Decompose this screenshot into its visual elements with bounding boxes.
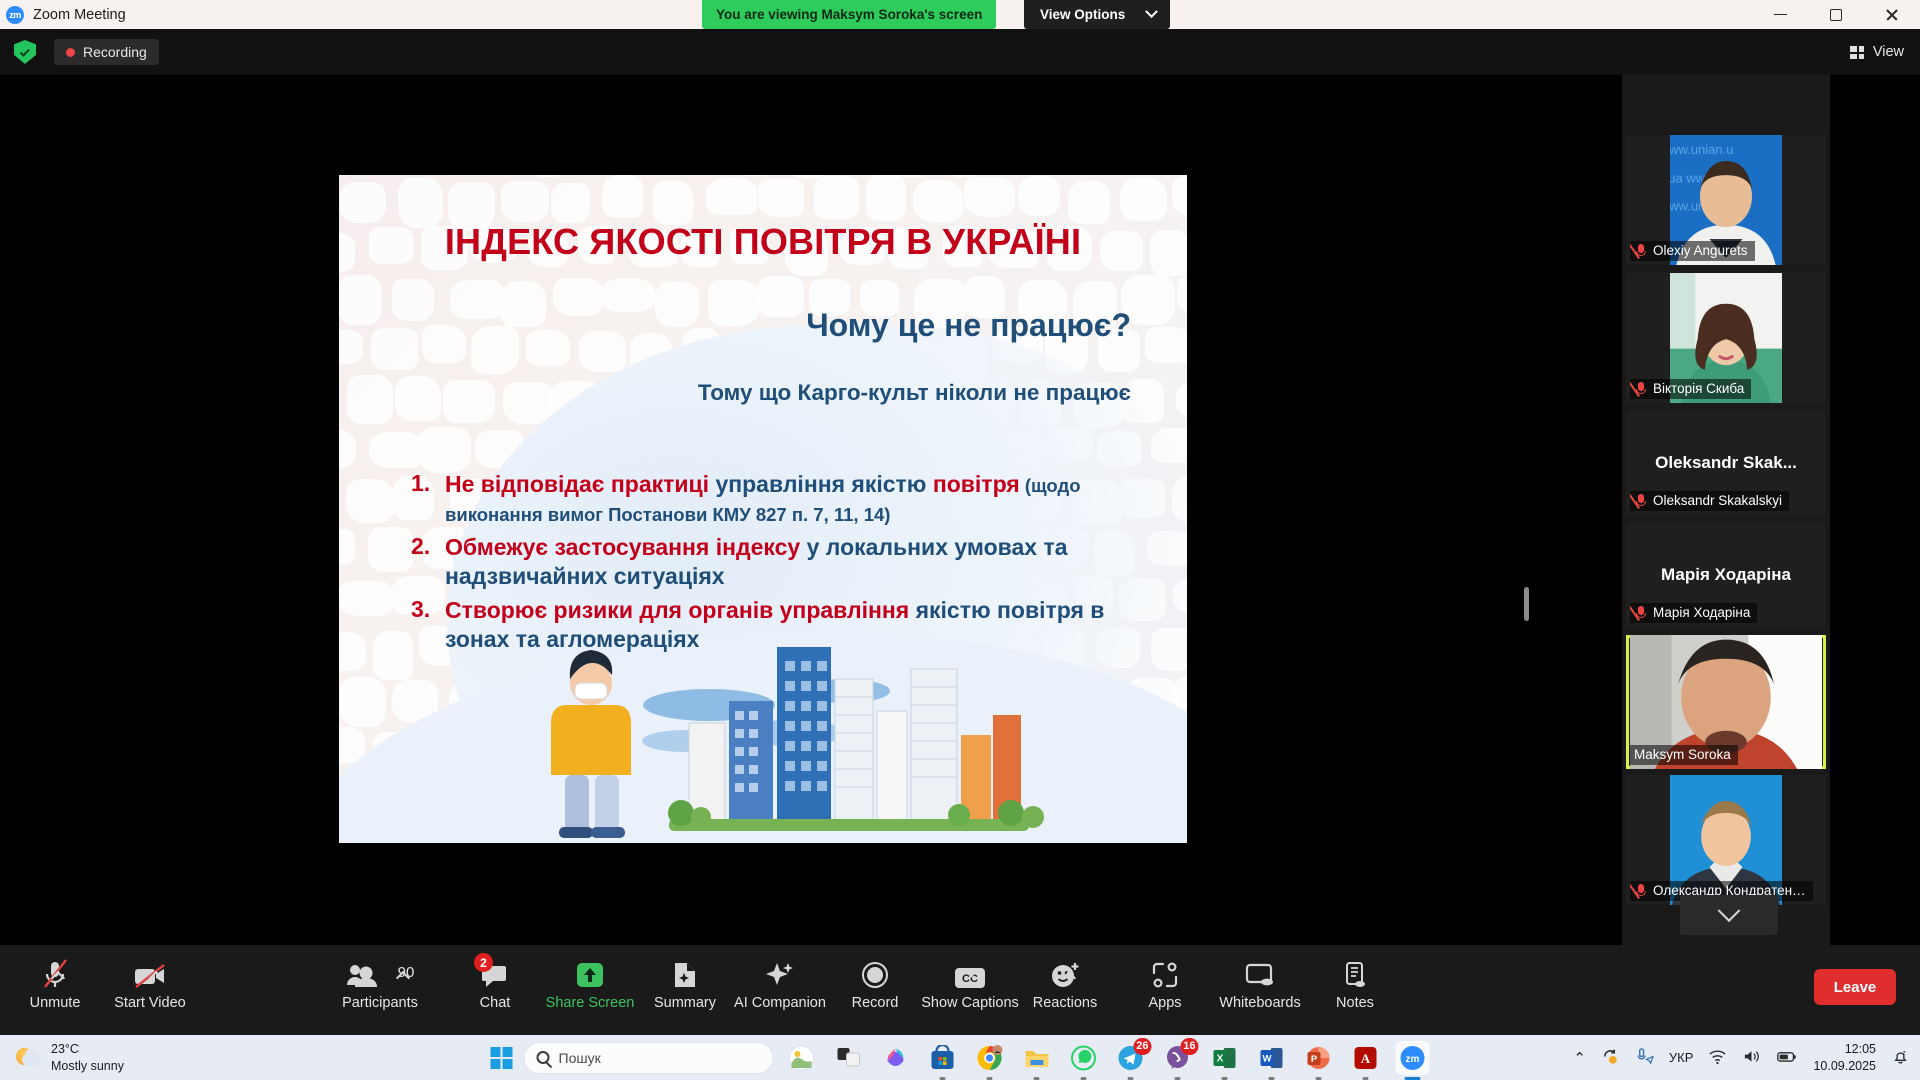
participant-name-label: Maksym Soroka [1630, 745, 1738, 765]
control-label: Reactions [1033, 995, 1097, 1011]
maximize-button[interactable] [1808, 0, 1864, 29]
taskbar-running-indicator [1128, 1077, 1134, 1080]
control-label: Whiteboards [1219, 995, 1300, 1011]
control-label: Chat [480, 995, 511, 1011]
weather-widget[interactable]: 23°C Mostly sunny [16, 1041, 124, 1075]
control-notes[interactable]: Notes [1300, 955, 1410, 1011]
taskbar-running-indicator [987, 1077, 993, 1080]
taskbar-running-indicator [1175, 1077, 1181, 1080]
encryption-shield-icon[interactable] [14, 40, 36, 64]
clock-date: 10.09.2025 [1813, 1058, 1876, 1075]
control-label: AI Companion [734, 995, 826, 1011]
volume-icon[interactable] [1742, 1047, 1761, 1069]
taskbar-running-indicator [1405, 1077, 1421, 1080]
record-dot-icon [66, 48, 75, 57]
notes-icon [1342, 955, 1368, 989]
presentation-slide: ІНДЕКС ЯКОСТІ ПОВІТРЯ В УКРАЇНІ Чому це … [339, 175, 1187, 843]
zoom-control-bar: Leave UnmuteStart Video90Participants2Ch… [0, 945, 1920, 1035]
participant-tile[interactable]: Вікторія Скиба [1626, 273, 1826, 403]
tray-expand-chevron-icon[interactable]: ⌃ [1573, 1049, 1586, 1067]
taskbar-telegram-button[interactable]: 26 [1114, 1041, 1148, 1075]
control-participants[interactable]: 90Participants [325, 955, 435, 1011]
language-indicator[interactable]: УКР [1669, 1050, 1694, 1065]
view-options-button[interactable]: View Options [1024, 0, 1170, 29]
participant-name-text: Olexiy Angurets [1653, 243, 1748, 258]
taskbar-powerpoint-button[interactable]: P [1302, 1041, 1336, 1075]
control-label: Start Video [114, 995, 185, 1011]
participant-tile[interactable]: www.unian.u n.ua www www.unian.u Olexiy … [1626, 135, 1826, 265]
onedrive-sync-icon[interactable] [1601, 1047, 1620, 1069]
control-label: Unmute [30, 995, 81, 1011]
recording-indicator[interactable]: Recording [54, 39, 159, 65]
slide-bullet-text: Не відповідає практиці управління якістю… [445, 470, 1149, 529]
svg-text:W: W [1263, 1053, 1272, 1064]
mic-muted-icon [1634, 243, 1648, 258]
taskbar-badge: 16 [1180, 1038, 1198, 1055]
slide-title: ІНДЕКС ЯКОСТІ ПОВІТРЯ В УКРАЇНІ [339, 221, 1187, 263]
control-label: Notes [1336, 995, 1374, 1011]
control-chat[interactable]: 2Chat [440, 955, 550, 1011]
grid-view-icon [1850, 46, 1865, 59]
participant-tile[interactable]: Марія ХодарінаМарія Ходаріна [1626, 523, 1826, 627]
zoom-meeting-window: zm Zoom Meeting You are viewing Maksym S… [0, 0, 1920, 1080]
taskbar-viber-button[interactable]: 16 [1161, 1041, 1195, 1075]
taskbar-task-view-button[interactable] [832, 1041, 866, 1075]
svg-text:z: z [1902, 1049, 1905, 1056]
chevron-down-icon [1718, 899, 1741, 922]
summary-icon [672, 955, 698, 989]
control-show-captions[interactable]: CCShow Captions [915, 955, 1025, 1011]
leave-button[interactable]: Leave [1814, 969, 1896, 1005]
slide-subtitle: Чому це не працює? [806, 307, 1131, 344]
taskbar-chrome-button[interactable] [973, 1041, 1007, 1075]
screen-share-banner: You are viewing Maksym Soroka's screen [702, 0, 996, 29]
control-label: Share Screen [546, 995, 635, 1011]
whiteboard-icon [1245, 955, 1275, 989]
share-screen-icon [575, 955, 605, 989]
taskbar-word-button[interactable]: W [1255, 1041, 1289, 1075]
slide-text-red: Не відповідає практиці [445, 471, 709, 497]
participant-name-text: Maksym Soroka [1634, 747, 1731, 762]
city-illustration-svg [339, 583, 1187, 843]
mic-muted-icon [1634, 493, 1648, 508]
share-panel-drag-handle[interactable] [1524, 587, 1529, 621]
taskbar-zoom-button[interactable]: zm [1396, 1041, 1430, 1075]
zoom-logo-icon: zm [6, 6, 24, 24]
control-label: Record [852, 995, 899, 1011]
minimize-icon [1774, 14, 1787, 16]
wifi-icon[interactable] [1708, 1047, 1727, 1069]
weather-temperature: 23°C [51, 1041, 124, 1058]
taskbar-running-indicator [1222, 1077, 1228, 1080]
chat-icon: 2 [481, 955, 509, 989]
taskbar-app-list: 2616XWPAzm [785, 1041, 1430, 1075]
control-share-screen[interactable]: Share Screen [535, 955, 645, 1011]
meeting-top-strip: Recording View [0, 29, 1920, 75]
taskbar-search-box[interactable]: Пошук [524, 1042, 774, 1074]
weather-description: Mostly sunny [51, 1058, 124, 1075]
control-ai-companion[interactable]: AI Companion [725, 955, 835, 1011]
slide-text-red-2: повітря [933, 471, 1020, 497]
participant-name-text: Oleksandr Skakalskyi [1653, 493, 1782, 508]
svg-text:P: P [1311, 1054, 1318, 1065]
search-icon [537, 1051, 550, 1064]
taskbar-clock[interactable]: 12:05 10.09.2025 [1813, 1041, 1876, 1075]
participant-tile[interactable]: Maksym Soroka [1626, 635, 1826, 769]
taskbar-excel-button[interactable]: X [1208, 1041, 1242, 1075]
slide-bullet-item: 1.Не відповідає практиці управління якіс… [389, 470, 1149, 529]
control-apps[interactable]: Apps [1110, 955, 1220, 1011]
view-layout-button[interactable]: View [1850, 44, 1904, 60]
participant-name-label: Марія Ходаріна [1630, 603, 1757, 623]
recording-label: Recording [83, 44, 147, 60]
clock-time: 12:05 [1813, 1041, 1876, 1058]
participant-name-text: Марія Ходаріна [1653, 605, 1750, 620]
microphone-tray-icon[interactable] [1635, 1047, 1654, 1069]
search-placeholder: Пошук [559, 1050, 601, 1066]
sparkle-icon [765, 955, 795, 989]
mic-off-icon [41, 955, 69, 989]
view-label: View [1873, 44, 1904, 60]
participant-name-label: Oleksandr Skakalskyi [1630, 491, 1789, 511]
slide-text-blue: управління якістю [709, 471, 926, 497]
close-button[interactable] [1864, 0, 1920, 29]
participant-name-label: Вікторія Скиба [1630, 379, 1751, 399]
weather-sun-cloud-icon [16, 1046, 42, 1070]
control-start-video[interactable]: Start Video [95, 955, 205, 1011]
taskbar-explorer-button[interactable] [1020, 1041, 1054, 1075]
unread-badge: 2 [474, 953, 493, 972]
shared-content-frame: ІНДЕКС ЯКОСТІ ПОВІТРЯ В УКРАЇНІ Чому це … [339, 99, 1187, 948]
filmstrip-scroll-down-button[interactable] [1680, 895, 1778, 935]
window-title: Zoom Meeting [33, 7, 126, 23]
participant-tile[interactable]: Олександр Кондратен… [1626, 775, 1826, 905]
svg-text:X: X [1217, 1053, 1224, 1064]
taskbar-widgets-button[interactable] [785, 1041, 819, 1075]
control-reactions[interactable]: Reactions [1010, 955, 1120, 1011]
control-unmute[interactable]: Unmute [0, 955, 110, 1011]
cc-icon: CC [954, 955, 986, 989]
svg-text:www.unian.u: www.unian.u [1670, 142, 1733, 157]
apps-icon [1151, 955, 1179, 989]
slide-lead-text: Тому що Карго-культ ніколи не працює [698, 380, 1131, 406]
control-label: Show Captions [921, 995, 1019, 1011]
minimize-button[interactable] [1752, 0, 1808, 29]
control-label: Summary [654, 995, 716, 1011]
control-whiteboards[interactable]: Whiteboards [1205, 955, 1315, 1011]
video-off-icon [133, 955, 167, 989]
taskbar-whatsapp-button[interactable] [1067, 1041, 1101, 1075]
svg-text:A: A [1361, 1051, 1371, 1066]
chevron-down-icon [1145, 5, 1158, 18]
control-record[interactable]: Record [820, 955, 930, 1011]
start-button[interactable] [491, 1047, 513, 1069]
participants-filmstrip[interactable]: www.unian.u n.ua www www.unian.u Olexiy … [1622, 75, 1830, 945]
system-tray: ⌃ УКР 12:05 10.09.2025 z [1573, 1041, 1910, 1075]
svg-text:zm: zm [1406, 1054, 1420, 1065]
control-label: Participants [342, 995, 418, 1011]
taskbar-running-indicator [1316, 1077, 1322, 1080]
record-icon [861, 955, 889, 989]
participant-name-label: Olexiy Angurets [1630, 241, 1755, 261]
window-controls [1752, 0, 1920, 29]
control-label: Apps [1148, 995, 1181, 1011]
slide-illustration [339, 583, 1187, 843]
participant-name-text: Вікторія Скиба [1653, 381, 1744, 396]
taskbar-copilot-button[interactable] [879, 1041, 913, 1075]
taskbar-badge: 26 [1133, 1038, 1151, 1055]
taskbar-center-group: Пошук 2616XWPAzm [491, 1041, 1430, 1075]
slide-bullet-number: 1. [389, 470, 445, 529]
mic-muted-icon [1634, 605, 1648, 620]
taskbar-running-indicator [940, 1077, 946, 1080]
window-titlebar: zm Zoom Meeting You are viewing Maksym S… [0, 0, 1920, 29]
reactions-icon [1050, 955, 1080, 989]
battery-icon[interactable] [1776, 1047, 1798, 1069]
taskbar-store-button[interactable] [926, 1041, 960, 1075]
taskbar-running-indicator [1081, 1077, 1087, 1080]
mic-muted-icon [1634, 883, 1648, 898]
taskbar-running-indicator [1034, 1077, 1040, 1080]
participants-icon: 90 [346, 955, 415, 989]
control-summary[interactable]: Summary [630, 955, 740, 1011]
taskbar-running-indicator [1269, 1077, 1275, 1080]
close-icon [1885, 8, 1899, 22]
maximize-icon [1830, 9, 1842, 21]
notifications-bell-icon[interactable]: z [1891, 1047, 1910, 1069]
windows-taskbar: 23°C Mostly sunny Пошук 2616XWPAzm ⌃ УКР [0, 1035, 1920, 1080]
taskbar-running-indicator [1363, 1077, 1369, 1080]
slide-text-red: Обмежує застосування індексу [445, 534, 800, 560]
view-options-label: View Options [1040, 7, 1125, 22]
taskbar-acrobat-button[interactable]: A [1349, 1041, 1383, 1075]
participant-tile[interactable]: Oleksandr Skak...Oleksandr Skakalskyi [1626, 411, 1826, 515]
mic-muted-icon [1634, 381, 1648, 396]
